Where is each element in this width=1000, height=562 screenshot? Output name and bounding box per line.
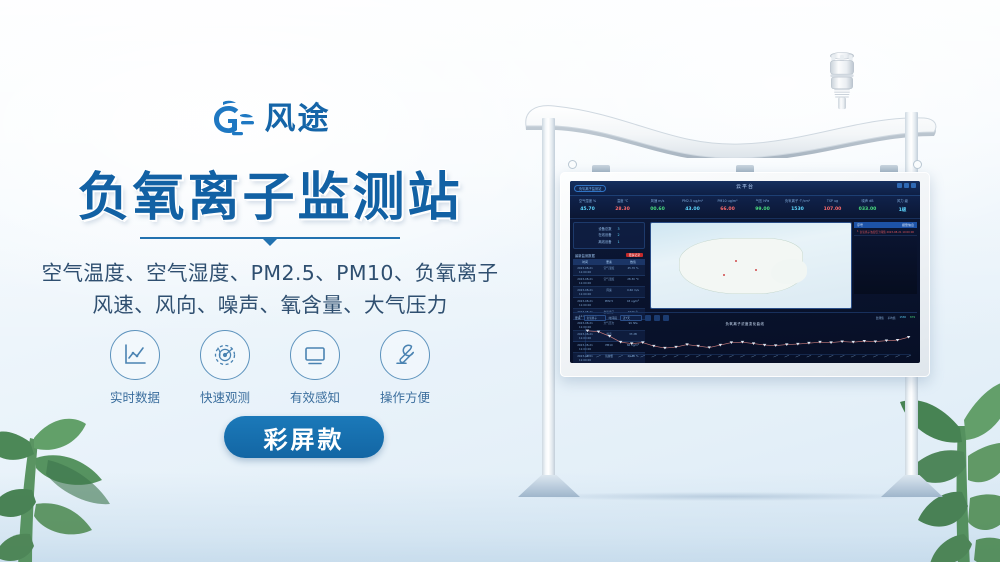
feature-icon-circle (110, 330, 160, 380)
feature-icon-circle (380, 330, 430, 380)
metric-label: 风速 m/s (640, 199, 675, 203)
dashboard-left-panel: 设备总数 3 在线设备 2 离线设备 1 最新监测数据 更多记录 (570, 219, 648, 312)
metric-label: 风力 级 (885, 199, 920, 203)
chart-value-measured: 1530 (899, 316, 906, 320)
screen-hanger-ring (568, 160, 577, 169)
cell-element: PM2.5 (597, 299, 621, 307)
chart-title: 负氧离子浓度变化曲线 (573, 321, 917, 326)
alert-row[interactable]: 1 负氧离子浓度低于阈值 2023-08-21 10:00:00 (854, 228, 917, 236)
trend-chart-panel: 要素 负氧离子 时间段 近7天 监测值 平均值 1530 879 负氧离子浓度变… (573, 312, 917, 360)
chart-x-tick (895, 355, 899, 357)
dashboard-screen[interactable]: 负氧离子监测站 云平台 空气湿度 % 45.70 温度 ℃ 28.30 风速 m… (570, 181, 920, 363)
cell-time: 2023-08-21 11:00:00 (573, 299, 597, 307)
screen-mount-bracket (736, 165, 754, 172)
chart-legend: 监测值 平均值 1530 879 (876, 316, 915, 320)
metric-value: 28.30 (605, 207, 640, 212)
chart-x-tick (862, 355, 866, 357)
metric-label: TSP ug (815, 199, 850, 203)
chart-x-tick (751, 355, 755, 357)
metric-card[interactable]: PM10 ug/m³ 66.00 (710, 196, 745, 218)
ultrasonic-weather-sensor-icon (822, 50, 862, 112)
chart-x-tick (618, 355, 622, 357)
metric-card[interactable]: 负氧离子 个/cm³ 1530 (780, 196, 815, 218)
chart-toolbar: 要素 负氧离子 时间段 近7天 监测值 平均值 1530 879 (573, 313, 917, 321)
canopy-icon (520, 96, 940, 158)
metric-card[interactable]: PM2.5 ug/m³ 43.00 (675, 196, 710, 218)
feature-item-effective-sensing[interactable]: 有效感知 (286, 330, 344, 406)
device-stats-box: 设备总数 3 在线设备 2 离线设备 1 (573, 222, 645, 249)
feature-item-easy-operation[interactable]: 操作方便 (376, 330, 434, 406)
metric-label: PM10 ug/m³ (710, 199, 745, 203)
column-header: 数值 (621, 260, 645, 264)
metric-card[interactable]: 风速 m/s 00.60 (640, 196, 675, 218)
metric-card[interactable]: 气压 hPa 99.00 (745, 196, 780, 218)
alert-message: 负氧离子浓度低于阈值 2023-08-21 10:00:00 (860, 230, 914, 234)
chart-x-tick (906, 355, 910, 357)
feature-label: 快速观测 (196, 387, 254, 406)
cell-value: 43 ug/m³ (621, 299, 645, 307)
chart-x-tick (796, 355, 800, 357)
chart-x-tick (663, 355, 667, 357)
trend-line-chart (583, 327, 913, 358)
data-table-header: 最新监测数据 更多记录 (573, 252, 645, 259)
dashboard-title: 云平台 (570, 183, 920, 190)
alert-index: 1 (857, 230, 859, 234)
dashboard-body: 设备总数 3 在线设备 2 离线设备 1 最新监测数据 更多记录 (570, 219, 920, 312)
chart-x-tick (585, 355, 589, 357)
station-map[interactable] (650, 222, 852, 309)
chart-x-tick (641, 355, 645, 357)
chart-x-tick (773, 355, 777, 357)
cell-time: 2023-08-21 11:00:00 (573, 288, 597, 296)
cell-time: 2023-08-21 11:00:00 (573, 277, 597, 285)
screen-hanger-ring (913, 160, 922, 169)
chart-filter-label-period: 时间段 (609, 316, 617, 320)
stat-label: 离线设备 (598, 239, 611, 245)
hero-subtitle: 空气温度、空气湿度、PM2.5、PM10、负氧离子 风速、风向、噪声、氧含量、大… (0, 258, 540, 322)
chart-value-average: 879 (910, 316, 915, 320)
subtitle-line-1: 空气温度、空气湿度、PM2.5、PM10、负氧离子 (0, 258, 540, 290)
radar-scan-icon (212, 342, 238, 368)
cell-element: 空气湿度 (597, 266, 621, 274)
metric-value: 43.00 (675, 207, 710, 212)
chart-x-tick (630, 355, 634, 357)
metric-card[interactable]: 风力 级 1级 (885, 196, 920, 218)
metric-card[interactable]: 温度 ℃ 28.30 (605, 196, 640, 218)
table-row[interactable]: 2023-08-21 11:00:00 PM2.5 43 ug/m³ (573, 298, 645, 309)
cell-value: 0.60 m/s (621, 288, 645, 296)
chart-x-tick (873, 355, 877, 357)
hero-copy-column: 风途 负氧离子监测站 空气温度、空气湿度、PM2.5、PM10、负氧离子 风速、… (0, 0, 540, 562)
column-header: 时间 (573, 260, 597, 264)
metric-label: 噪声 dB (850, 199, 885, 203)
leaf-cloud-logo-icon (210, 100, 256, 138)
chart-x-tick (718, 355, 722, 357)
feature-label: 实时数据 (106, 387, 164, 406)
support-post-left (542, 118, 555, 496)
screen-mount-bracket (880, 165, 898, 172)
cell-element: 风速 (597, 288, 621, 296)
table-row[interactable]: 2023-08-21 11:00:00 风速 0.60 m/s (573, 287, 645, 298)
brand-name: 风途 (265, 104, 331, 135)
subtitle-line-2: 风速、风向、噪声、氧含量、大气压力 (0, 290, 540, 322)
map-station-marker[interactable] (723, 274, 725, 276)
cell-value: 28.30 ℃ (621, 277, 645, 285)
chart-x-tick (840, 355, 844, 357)
feature-icon-circle (200, 330, 250, 380)
chart-x-tick (818, 355, 822, 357)
metric-value: 45.70 (570, 207, 605, 212)
chart-x-tick (740, 355, 744, 357)
metric-value: 1530 (780, 207, 815, 212)
chart-x-tick (707, 355, 711, 357)
dashboard-topbar-icons[interactable] (897, 183, 916, 188)
dashboard-right-panel: 序号 报警信息 1 负氧离子浓度低于阈值 2023-08-21 10:00:00 (854, 219, 920, 312)
cell-value: 45.70 % (621, 266, 645, 274)
divider-triangle-icon (262, 238, 278, 246)
metric-label: PM2.5 ug/m³ (675, 199, 710, 203)
metric-label: 空气湿度 % (570, 199, 605, 203)
data-table-title: 最新监测数据 (575, 253, 595, 258)
chart-x-tick (884, 355, 888, 357)
chart-x-tick (596, 355, 600, 357)
metric-label: 气压 hPa (745, 199, 780, 203)
feature-item-fast-observation[interactable]: 快速观测 (196, 330, 254, 406)
title-divider (0, 237, 540, 246)
chart-x-tick (674, 355, 678, 357)
display-frame: 负氧离子监测站 云平台 空气湿度 % 45.70 温度 ℃ 28.30 风速 m… (560, 172, 930, 377)
cell-time: 2023-08-21 11:00:00 (573, 266, 597, 274)
feature-item-realtime-data[interactable]: 实时数据 (106, 330, 164, 406)
metric-value: 107.00 (815, 207, 850, 212)
chart-x-tick (652, 355, 656, 357)
metric-card[interactable]: TSP ug 107.00 (815, 196, 850, 218)
metric-value: 033.00 (850, 207, 885, 212)
list-icon[interactable] (904, 183, 909, 188)
alert-col-message: 报警信息 (902, 223, 914, 227)
metric-label: 温度 ℃ (605, 199, 640, 203)
legend-item-measured: 监测值 (876, 316, 884, 320)
metric-value: 99.00 (745, 207, 780, 212)
cell-element: 空气温度 (597, 277, 621, 285)
metric-strip: 空气湿度 % 45.70 温度 ℃ 28.30 风速 m/s 00.60 PM2… (570, 196, 920, 219)
map-station-marker[interactable] (755, 269, 757, 271)
metric-card[interactable]: 空气湿度 % 45.70 (570, 196, 605, 218)
chart-filter-label-element: 要素 (575, 316, 581, 320)
chart-x-tick (785, 355, 789, 357)
chart-x-tick (729, 355, 733, 357)
cta-button[interactable]: 彩屏款 (224, 416, 384, 458)
chart-x-tick (607, 355, 611, 357)
chart-x-tick (851, 355, 855, 357)
screen-mount-bracket (592, 165, 610, 172)
stat-value: 1 (618, 239, 620, 245)
table-row[interactable]: 2023-08-21 11:00:00 空气温度 28.30 ℃ (573, 276, 645, 287)
dashboard-topbar: 负氧离子监测站 云平台 (570, 181, 920, 196)
table-row[interactable]: 2023-08-21 11:00:00 空气湿度 45.70 % (573, 265, 645, 276)
monitor-icon (302, 342, 328, 368)
grid-icon[interactable] (897, 183, 902, 188)
line-chart-icon (122, 342, 148, 368)
metric-value: 1级 (885, 207, 920, 213)
feature-list: 实时数据 快速观测 有效感知 (0, 330, 540, 406)
page-title: 负氧离子监测站 (0, 155, 540, 230)
chart-x-tick (807, 355, 811, 357)
device-ground-shadow (528, 492, 926, 501)
wrench-icon (392, 342, 418, 368)
chart-x-tick (685, 355, 689, 357)
chart-x-tick (829, 355, 833, 357)
alert-col-index: 序号 (857, 223, 863, 227)
chart-x-tick (696, 355, 700, 357)
stat-row: 离线设备 1 (576, 239, 642, 245)
metric-card[interactable]: 噪声 dB 033.00 (850, 196, 885, 218)
chart-plot-area (583, 327, 913, 358)
map-landmass-secondary (771, 259, 807, 285)
column-header: 要素 (597, 260, 621, 264)
chart-x-tick (762, 355, 766, 357)
more-records-badge[interactable]: 更多记录 (626, 253, 643, 257)
metric-value: 00.60 (640, 207, 675, 212)
feature-icon-circle (290, 330, 340, 380)
alert-panel-empty-area (854, 236, 917, 294)
legend-item-average: 平均值 (888, 316, 896, 320)
feature-label: 操作方便 (376, 387, 434, 406)
gear-icon[interactable] (911, 183, 916, 188)
metric-label: 负氧离子 个/cm³ (780, 199, 815, 203)
metric-value: 66.00 (710, 207, 745, 212)
feature-label: 有效感知 (286, 387, 344, 406)
brand-logo: 风途 (0, 100, 540, 138)
